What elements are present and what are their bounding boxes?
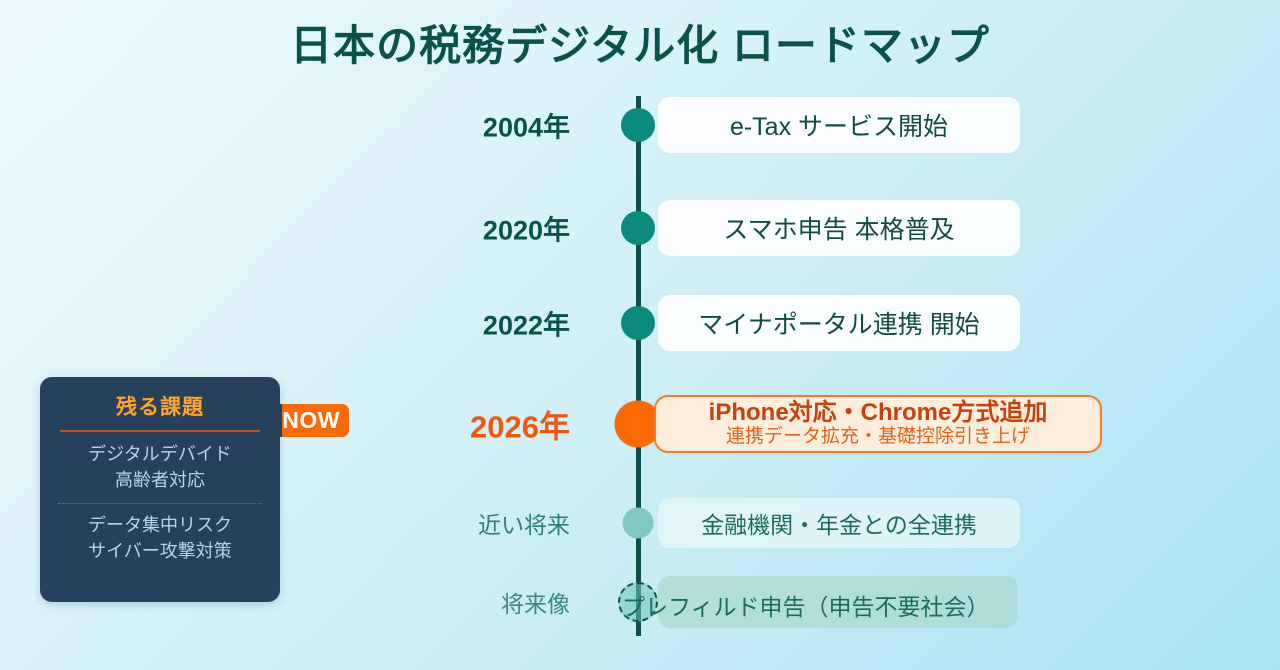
timeline-row-label: 2022年 xyxy=(270,304,570,343)
timeline-row-label: 2004年 xyxy=(270,106,570,145)
timeline-event-card[interactable]: マイナポータル連携 開始 xyxy=(658,295,1020,351)
challenge-group: デジタルデバイド 高齢者対応 xyxy=(54,442,266,493)
challenge-item: データ集中リスク xyxy=(54,513,266,539)
timeline-event-card-current[interactable]: iPhone対応・Chrome方式追加 連携データ拡充・基礎控除引き上げ xyxy=(654,395,1102,453)
challenge-item: デジタルデバイド xyxy=(54,442,266,468)
challenge-item: サイバー攻撃対策 xyxy=(54,539,266,565)
timeline-event-title: マイナポータル連携 開始 xyxy=(698,305,979,341)
timeline-axis xyxy=(636,96,641,636)
timeline-marker-dot[interactable] xyxy=(621,306,655,340)
timeline-marker-dot[interactable] xyxy=(623,508,654,539)
challenge-group-separator xyxy=(58,503,262,504)
timeline-event-title: 金融機関・年金との全連携 xyxy=(701,506,977,540)
timeline-event-card[interactable]: プレフィルド申告（申告不要社会） xyxy=(658,576,1018,628)
timeline-event-subtitle: 連携データ拡充・基礎控除引き上げ xyxy=(726,426,1030,448)
timeline-marker-dot[interactable] xyxy=(621,211,655,245)
timeline-event-card[interactable]: 金融機関・年金との全連携 xyxy=(658,498,1020,548)
now-badge-label: NOW xyxy=(282,407,340,434)
challenges-panel-title: 残る課題 xyxy=(54,391,266,421)
challenges-panel-divider xyxy=(60,430,260,432)
now-badge-occluded-edge xyxy=(265,404,282,437)
timeline-event-card[interactable]: スマホ申告 本格普及 xyxy=(658,200,1020,256)
timeline-row-label: 近い将来 xyxy=(270,506,570,540)
challenge-group: データ集中リスク サイバー攻撃対策 xyxy=(54,513,266,564)
timeline-row-label: 将来像 xyxy=(270,585,570,619)
timeline-event-card[interactable]: e-Tax サービス開始 xyxy=(658,97,1020,153)
timeline-event-title: e-Tax サービス開始 xyxy=(730,107,948,143)
timeline-event-title: スマホ申告 本格普及 xyxy=(723,210,954,246)
timeline-marker-dot[interactable] xyxy=(621,108,655,142)
timeline-event-title: iPhone対応・Chrome方式追加 xyxy=(709,400,1048,426)
timeline-row-label: 2020年 xyxy=(270,209,570,248)
remaining-challenges-panel: 残る課題 デジタルデバイド 高齢者対応 データ集中リスク サイバー攻撃対策 xyxy=(40,377,280,602)
challenge-item: 高齢者対応 xyxy=(54,468,266,494)
timeline-event-title: プレフィルド申告（申告不要社会） xyxy=(622,588,990,622)
